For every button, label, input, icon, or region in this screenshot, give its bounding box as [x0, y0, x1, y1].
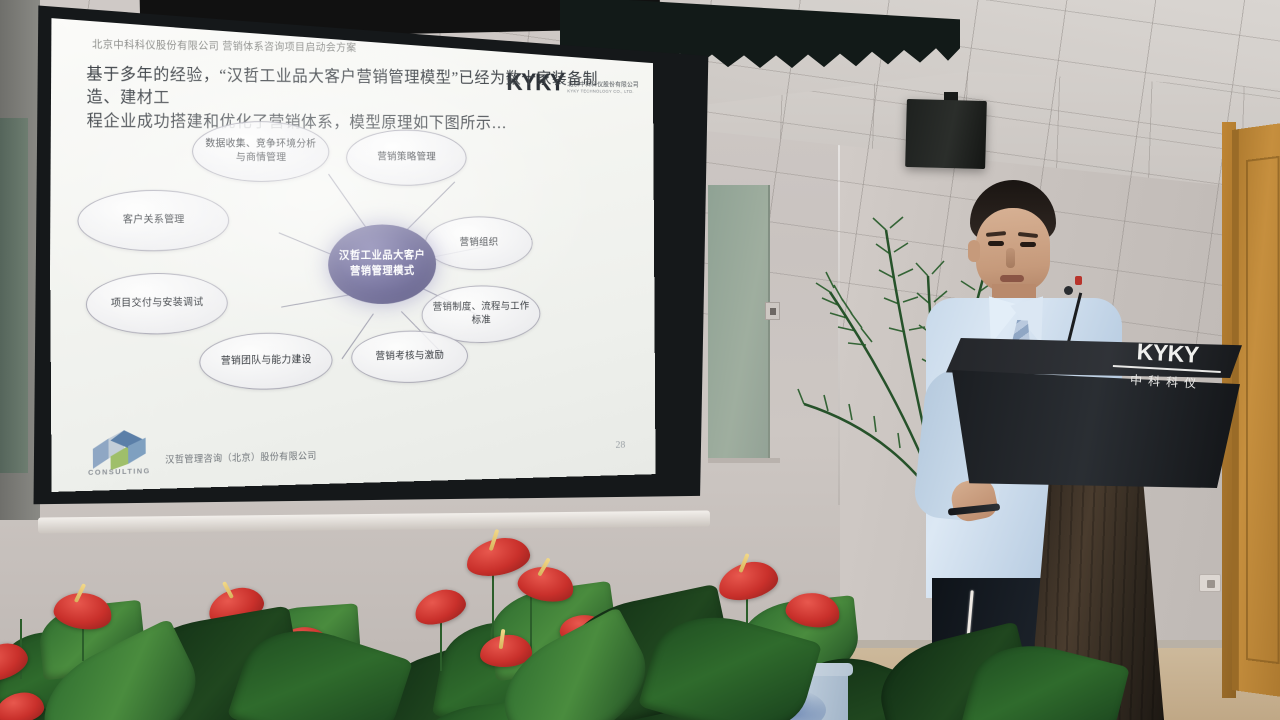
projected-slide-area: 北京中科科仪股份有限公司 营销体系咨询项目启动会方案 KYKY 北京中科科仪股份… — [28, 0, 718, 519]
slide-page-number: 28 — [615, 439, 625, 451]
projection-screen-frame: 北京中科科仪股份有限公司 营销体系咨询项目启动会方案 KYKY 北京中科科仪股份… — [28, 0, 718, 519]
presenter-eye-right — [1020, 242, 1036, 247]
light-switch-right[interactable] — [1199, 574, 1221, 592]
presenter-nose — [1006, 248, 1015, 268]
podium-branding: KYKY 中科科仪 — [1091, 338, 1243, 394]
mic-indicator-light — [1075, 276, 1082, 285]
consulting-logo-text: CONSULTING — [87, 466, 152, 477]
diagram-node-1[interactable]: 营销策略管理 — [346, 129, 467, 185]
hub-spoke-diagram: 数据收集、竞争环境分析与商情管理 营销策略管理 营销组织 营销制度、流程与工作标… — [49, 114, 655, 414]
center-label-line-2: 营销管理模式 — [350, 264, 415, 280]
green-board-right — [708, 185, 770, 463]
slide-header-text: 北京中科科仪股份有限公司 营销体系咨询项目启动会方案 — [92, 37, 357, 55]
green-board-left — [0, 118, 28, 473]
board-tray — [708, 458, 780, 463]
presenter-mouth — [1000, 275, 1024, 282]
presenter-eye-left — [988, 241, 1004, 246]
conference-room-photo: KYKY 中科科仪 北京中科科仪股份有限公司 营销体系咨询项目启动会方案 KYK… — [0, 0, 1280, 720]
center-label-line-1: 汉哲工业品大客户 — [339, 248, 425, 264]
presenter-ear — [968, 240, 980, 262]
microphone-head — [1064, 286, 1073, 295]
footer-company-name: 汉哲管理咨询（北京）股份有限公司 — [165, 448, 317, 466]
diagram-node-0[interactable]: 数据收集、竞争环境分析与商情管理 — [192, 121, 330, 182]
presentation-slide: 北京中科科仪股份有限公司 营销体系咨询项目启动会方案 KYKY 北京中科科仪股份… — [48, 14, 655, 492]
wall-speaker — [905, 99, 987, 169]
light-switch-center[interactable] — [765, 302, 780, 320]
door-panel — [1246, 156, 1280, 664]
slide-title-line-1: 基于多年的经验，“汉哲工业品大客户营销管理模型”已经为数十家装备制造、建材工 — [86, 62, 628, 112]
